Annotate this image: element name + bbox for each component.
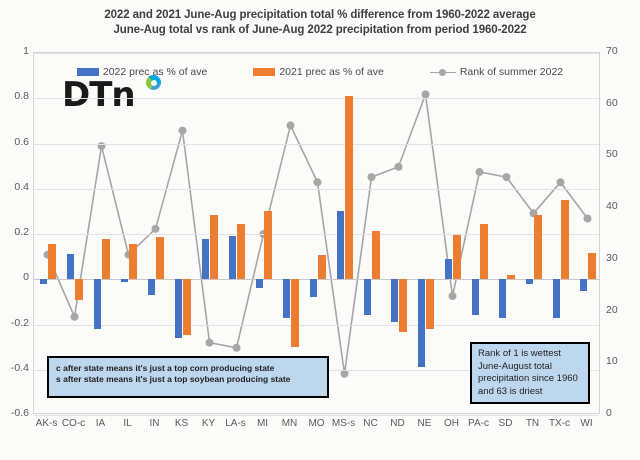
y-axis-tick-left: 0.2 — [0, 226, 29, 238]
bar-2022-SD[interactable] — [499, 279, 507, 317]
bar-2022-TX-c[interactable] — [553, 279, 561, 317]
bar-2021-IN[interactable] — [156, 237, 164, 279]
bar-2022-NC[interactable] — [364, 279, 372, 315]
bar-2022-CO-c[interactable] — [67, 254, 75, 279]
bar-2021-IL[interactable] — [129, 244, 137, 279]
rank-marker-NE[interactable] — [422, 90, 430, 98]
bar-2022-TN[interactable] — [526, 279, 534, 284]
y-axis-tick-right: 10 — [606, 355, 636, 367]
bar-2021-NE[interactable] — [426, 279, 434, 329]
bar-2022-KY[interactable] — [202, 239, 210, 280]
gridline — [34, 98, 599, 99]
y-axis-tick-left: 0.8 — [0, 90, 29, 102]
rank-marker-WI[interactable] — [584, 214, 592, 222]
crop-note-line-2: s after state means it's just a top soyb… — [56, 374, 320, 385]
bar-2021-IA[interactable] — [102, 239, 110, 280]
rank-marker-TX-c[interactable] — [557, 178, 565, 186]
rank-marker-NC[interactable] — [368, 173, 376, 181]
bar-2022-WI[interactable] — [580, 279, 588, 290]
bar-2022-ND[interactable] — [391, 279, 399, 322]
rank-marker-CO-c[interactable] — [71, 313, 79, 321]
rank-marker-MN[interactable] — [287, 121, 295, 129]
chart-title-line-1: 2022 and 2021 June-Aug precipitation tot… — [0, 8, 640, 23]
bar-2021-OH[interactable] — [453, 235, 461, 279]
bar-2022-KS[interactable] — [175, 279, 183, 338]
bar-2021-CO-c[interactable] — [75, 279, 83, 299]
rank-marker-MO[interactable] — [314, 178, 322, 186]
y-axis-tick-right: 60 — [606, 97, 636, 109]
gridline — [34, 325, 599, 326]
bar-2021-MS-s[interactable] — [345, 96, 353, 279]
bar-2022-MN[interactable] — [283, 279, 291, 317]
bar-2021-TN[interactable] — [534, 215, 542, 279]
y-axis-tick-left: 0.4 — [0, 181, 29, 193]
y-axis-tick-left: -0.2 — [0, 317, 29, 329]
y-axis-tick-right: 50 — [606, 148, 636, 160]
bar-2022-AK-s[interactable] — [40, 279, 48, 284]
bar-2021-NC[interactable] — [372, 231, 380, 280]
y-axis-tick-right: 70 — [606, 45, 636, 57]
y-axis-tick-left: 0 — [0, 271, 29, 283]
bar-2022-PA-c[interactable] — [472, 279, 480, 315]
rank-marker-KY[interactable] — [206, 339, 214, 347]
rank-marker-LA-s[interactable] — [233, 344, 241, 352]
bar-2022-MI[interactable] — [256, 279, 264, 288]
bar-2022-IA[interactable] — [94, 279, 102, 329]
y-axis-tick-right: 40 — [606, 200, 636, 212]
y-axis-tick-right: 20 — [606, 304, 636, 316]
rank-marker-SD[interactable] — [503, 173, 511, 181]
x-axis-tick-WI: WI — [557, 418, 617, 429]
rank-explanation-note: Rank of 1 is wettest June-August total p… — [470, 342, 590, 404]
bar-2021-PA-c[interactable] — [480, 224, 488, 279]
bar-2021-MI[interactable] — [264, 211, 272, 279]
bar-2022-OH[interactable] — [445, 259, 453, 279]
y-axis-tick-left: 0.6 — [0, 136, 29, 148]
bar-2021-WI[interactable] — [588, 253, 596, 279]
chart-container: 2022 and 2021 June-Aug precipitation tot… — [0, 0, 640, 460]
chart-title-line-2: June-Aug total vs rank of June-Aug 2022 … — [0, 23, 640, 38]
rank-marker-OH[interactable] — [449, 292, 457, 300]
rank-marker-PA-c[interactable] — [476, 168, 484, 176]
crop-legend-note: c after state means it's just a top corn… — [47, 356, 329, 398]
bar-2021-MN[interactable] — [291, 279, 299, 347]
bar-2022-LA-s[interactable] — [229, 236, 237, 279]
gridline — [34, 189, 599, 190]
bar-2021-TX-c[interactable] — [561, 200, 569, 279]
bar-2021-KS[interactable] — [183, 279, 191, 334]
bar-2021-SD[interactable] — [507, 275, 515, 280]
bar-2022-MS-s[interactable] — [337, 211, 345, 279]
bar-2021-AK-s[interactable] — [48, 244, 56, 279]
gridline — [34, 144, 599, 145]
rank-marker-ND[interactable] — [395, 163, 403, 171]
bar-2021-ND[interactable] — [399, 279, 407, 332]
y-axis-tick-right: 30 — [606, 252, 636, 264]
bar-2021-MO[interactable] — [318, 255, 326, 279]
bar-2022-IL[interactable] — [121, 279, 129, 281]
rank-marker-IN[interactable] — [152, 225, 160, 233]
crop-note-line-1: c after state means it's just a top corn… — [56, 363, 320, 374]
y-axis-tick-left: 1 — [0, 45, 29, 57]
gridline — [34, 234, 599, 235]
bar-2022-MO[interactable] — [310, 279, 318, 297]
bar-2021-KY[interactable] — [210, 215, 218, 279]
rank-marker-MS-s[interactable] — [341, 370, 349, 378]
rank-marker-KS[interactable] — [179, 127, 187, 135]
gridline — [34, 53, 599, 54]
gridline — [34, 415, 599, 416]
bar-2022-NE[interactable] — [418, 279, 426, 367]
chart-title: 2022 and 2021 June-Aug precipitation tot… — [0, 8, 640, 38]
bar-2022-IN[interactable] — [148, 279, 156, 295]
y-axis-tick-left: -0.4 — [0, 362, 29, 374]
bar-2021-LA-s[interactable] — [237, 224, 245, 279]
